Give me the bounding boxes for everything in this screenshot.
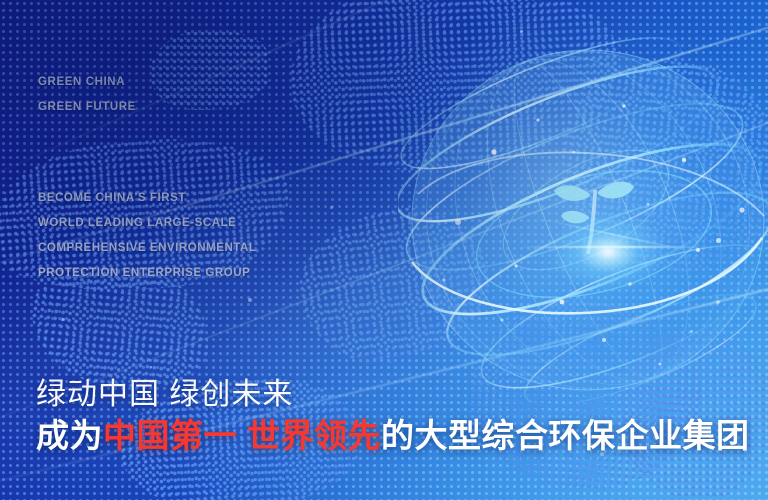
tagline-line: BECOME CHINA'S FIRST bbox=[38, 186, 256, 211]
headline-chinese: 绿动中国 绿创未来 成为中国第一世界领先的大型综合环保企业集团 bbox=[36, 376, 750, 458]
tagline-line: GREEN FUTURE bbox=[38, 95, 136, 120]
headline-line-2: 成为中国第一世界领先的大型综合环保企业集团 bbox=[36, 414, 750, 458]
headline-highlight-first: 中国第一 bbox=[103, 417, 237, 454]
tagline-line: GREEN CHINA bbox=[38, 70, 136, 95]
tagline-line: WORLD LEADING LARGE-SCALE bbox=[38, 211, 256, 236]
headline-suffix: 的大型综合环保企业集团 bbox=[381, 417, 750, 454]
tagline-line: COMPREHENSIVE ENVIRONMENTAL bbox=[38, 236, 256, 261]
headline-highlight-second: 世界领先 bbox=[247, 417, 381, 454]
headline-prefix: 成为 bbox=[36, 417, 103, 454]
headline-line-1: 绿动中国 绿创未来 bbox=[36, 376, 750, 414]
promo-banner: GREEN CHINA GREEN FUTURE BECOME CHINA'S … bbox=[0, 0, 768, 500]
tagline-english-main: BECOME CHINA'S FIRST WORLD LEADING LARGE… bbox=[38, 186, 256, 286]
tagline-line: PROTECTION ENTERPRISE GROUP bbox=[38, 261, 256, 286]
tagline-english-top: GREEN CHINA GREEN FUTURE bbox=[38, 70, 136, 120]
